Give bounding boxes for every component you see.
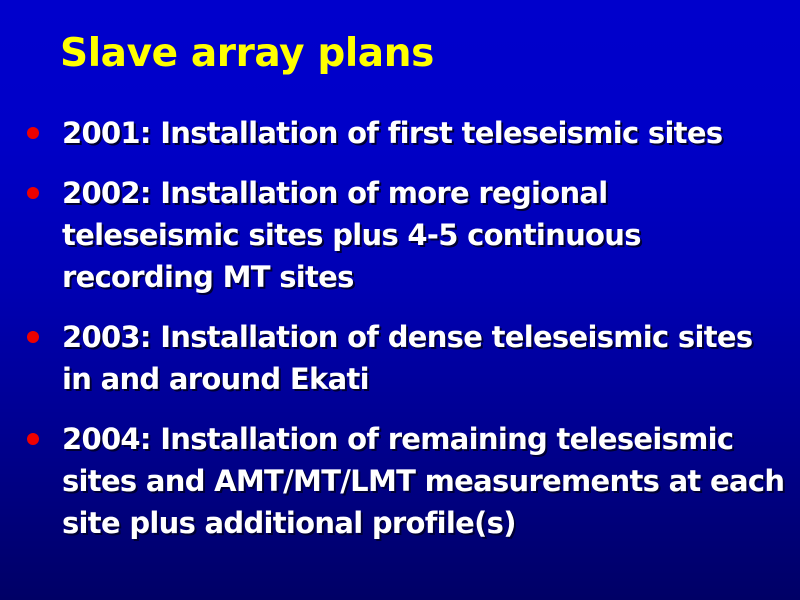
list-item: 2001: Installation of first teleseismic …	[0, 112, 800, 154]
list-item-text: 2004: Installation of remaining teleseis…	[62, 418, 786, 544]
list-item-text: 2003: Installation of dense teleseismic …	[62, 316, 786, 400]
list-item: 2003: Installation of dense teleseismic …	[0, 316, 800, 400]
bullet-dot-icon	[27, 331, 39, 343]
list-item-text: 2002: Installation of more regional tele…	[62, 172, 786, 298]
list-item: 2002: Installation of more regional tele…	[0, 172, 800, 298]
list-item: 2004: Installation of remaining teleseis…	[0, 418, 800, 544]
presentation-slide: Slave array plans 2001: Installation of …	[0, 0, 800, 600]
bullet-list: 2001: Installation of first teleseismic …	[0, 112, 800, 562]
page-title: Slave array plans	[60, 32, 760, 76]
bullet-dot-icon	[27, 433, 39, 445]
bullet-dot-icon	[27, 187, 39, 199]
list-item-text: 2001: Installation of first teleseismic …	[62, 112, 786, 154]
bullet-dot-icon	[27, 127, 39, 139]
